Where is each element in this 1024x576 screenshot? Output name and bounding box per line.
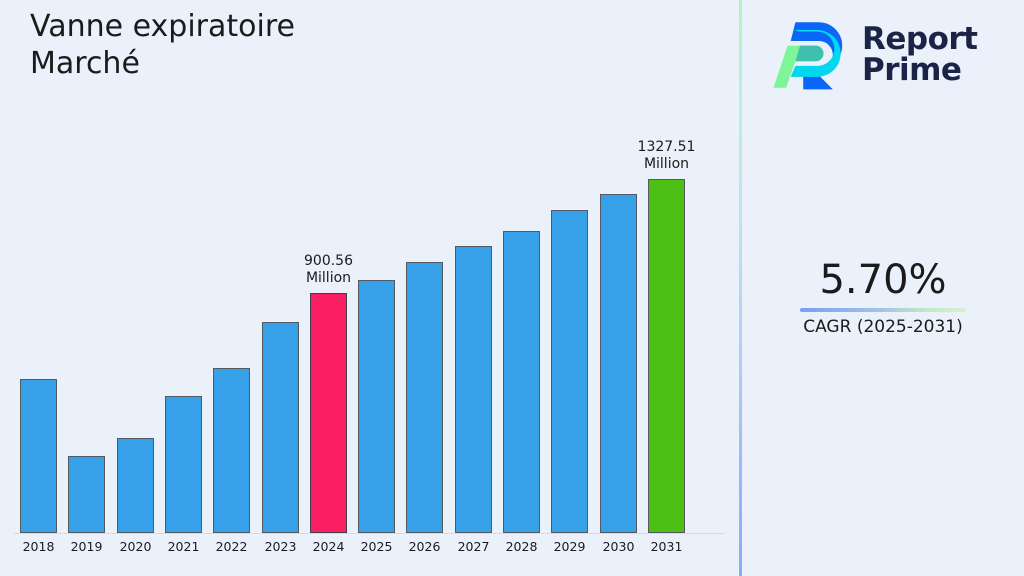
x-tick-2022: 2022 [207,539,256,554]
cagr-value: 5.70% [742,256,1024,304]
x-tick-2018: 2018 [14,539,63,554]
cagr-divider-rule [800,308,966,312]
x-tick-2019: 2019 [62,539,111,554]
bar-2029 [551,210,588,533]
chart-panel: Vanne expiratoire Marché 900.56 Million1… [0,0,740,576]
x-tick-2030: 2030 [594,539,643,554]
bar-2020 [117,438,154,533]
bar-2022 [213,368,250,533]
value-label-2031: 1327.51 Million [603,139,730,173]
x-tick-2028: 2028 [497,539,546,554]
x-axis-line [14,533,725,534]
bar-2021 [165,396,202,533]
bar-2018 [20,379,57,533]
bar-2025 [358,280,395,533]
bar-chart-plot: 900.56 Million1327.51 Million 2018201920… [0,0,740,576]
bar-2023 [262,322,299,533]
report-prime-logo-icon [772,16,850,94]
x-tick-2025: 2025 [352,539,401,554]
x-tick-2020: 2020 [111,539,160,554]
bar-2030 [600,194,637,533]
bar-2019 [68,456,105,533]
x-tick-2027: 2027 [449,539,498,554]
x-tick-2021: 2021 [159,539,208,554]
x-tick-2024: 2024 [304,539,353,554]
cagr-block: 5.70% CAGR (2025-2031) [742,256,1024,338]
report-prime-logo[interactable]: Report Prime [772,12,1002,98]
bar-2024 [310,293,347,533]
x-tick-2023: 2023 [256,539,305,554]
infographic-root: Vanne expiratoire Marché 900.56 Million1… [0,0,1024,576]
cagr-caption: CAGR (2025-2031) [742,317,1024,338]
x-tick-2029: 2029 [545,539,594,554]
brand-panel: Report Prime 5.70% CAGR (2025-2031) [742,0,1024,576]
value-label-2024: 900.56 Million [265,253,392,287]
bar-2026 [406,262,443,533]
bar-2028 [503,231,540,533]
bar-2031 [648,179,685,533]
brand-name: Report Prime [862,24,978,86]
bar-2027 [455,246,492,533]
x-tick-2031: 2031 [642,539,691,554]
x-tick-2026: 2026 [400,539,449,554]
